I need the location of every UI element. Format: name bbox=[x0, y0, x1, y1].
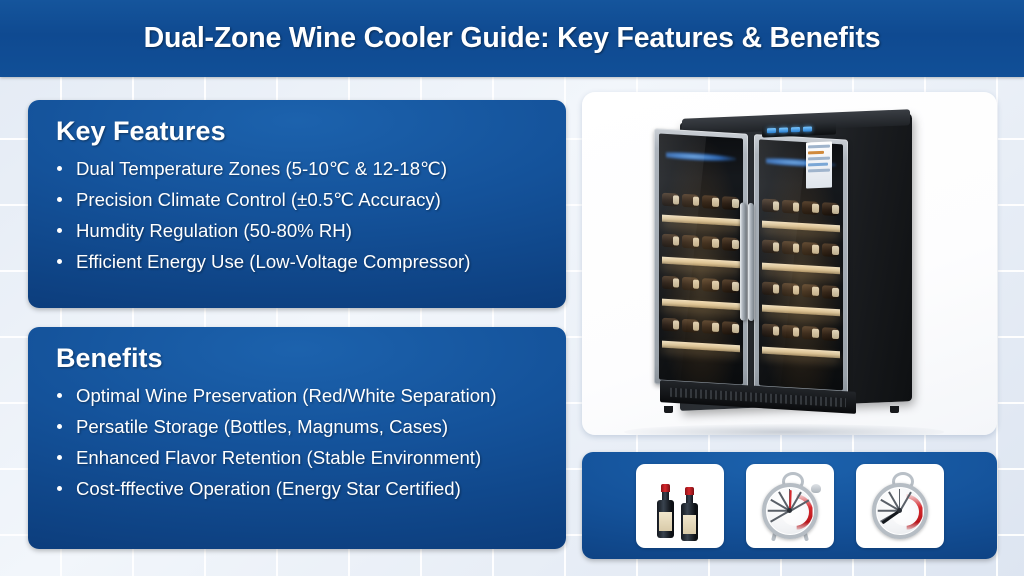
list-item: Efficient Energy Use (Low-Voltage Compre… bbox=[50, 246, 546, 277]
bottle-label bbox=[683, 515, 696, 534]
bottle bbox=[662, 234, 680, 248]
key-features-panel: Key Features Dual Temperature Zones (5-1… bbox=[28, 100, 566, 308]
sticker-line bbox=[808, 169, 830, 173]
wine-cooler-image bbox=[654, 114, 924, 414]
shelf bbox=[762, 346, 841, 358]
door-handle-right[interactable] bbox=[748, 203, 754, 321]
shelf bbox=[662, 340, 741, 352]
product-photo-card bbox=[582, 92, 997, 435]
bullet-dot-icon bbox=[57, 486, 62, 491]
bottle bbox=[682, 319, 700, 333]
cabinet-foot bbox=[664, 406, 673, 413]
bottle bbox=[802, 201, 820, 215]
bottle bbox=[822, 244, 840, 258]
sticker-line bbox=[808, 145, 830, 149]
benefits-panel: Benefits Optimal Wine Preservation (Red/… bbox=[28, 327, 566, 549]
bottle bbox=[682, 235, 700, 249]
key-features-list: Dual Temperature Zones (5-10℃ & 12-18℃) … bbox=[50, 153, 546, 277]
bottle bbox=[702, 278, 720, 292]
shelf bbox=[762, 221, 841, 233]
bottle bbox=[722, 238, 740, 252]
bullet-dot-icon bbox=[57, 424, 62, 429]
bottle bbox=[682, 277, 700, 291]
list-item: Cost-fffective Operation (Energy Star Ce… bbox=[50, 473, 546, 504]
icon-card-hygrometer[interactable] bbox=[856, 464, 944, 548]
list-item-label: Dual Temperature Zones (5-10℃ & 12-18℃) bbox=[76, 158, 447, 179]
shelf bbox=[662, 215, 741, 227]
cooler-door-left[interactable] bbox=[654, 128, 748, 390]
sticker-line bbox=[808, 157, 830, 161]
shelf bbox=[662, 257, 741, 269]
list-item-label: Enhanced Flavor Retention (Stable Enviro… bbox=[76, 447, 481, 468]
bottle-capsule bbox=[685, 487, 694, 495]
bottle bbox=[722, 196, 740, 210]
list-item-label: Cost-fffective Operation (Energy Star Ce… bbox=[76, 478, 461, 499]
bottle bbox=[782, 199, 800, 213]
bottle bbox=[782, 283, 800, 297]
bottle bbox=[762, 240, 780, 254]
bottle bbox=[822, 285, 840, 299]
icon-strip bbox=[582, 452, 997, 559]
bottle bbox=[662, 276, 680, 290]
bullet-dot-icon bbox=[57, 197, 62, 202]
led-digit bbox=[779, 127, 788, 132]
sticker-line bbox=[808, 151, 824, 155]
hygrometer-gauge-icon bbox=[869, 471, 931, 541]
bullet-dot-icon bbox=[57, 166, 62, 171]
bottle bbox=[822, 327, 840, 341]
cooler-door-right[interactable] bbox=[754, 134, 848, 396]
gauge-face bbox=[872, 483, 928, 539]
bottle bbox=[802, 284, 820, 298]
sticker-line bbox=[808, 163, 828, 167]
floor-shadow bbox=[624, 424, 944, 435]
bottle bbox=[822, 202, 840, 216]
list-item-label: Precision Climate Control (±0.5℃ Accurac… bbox=[76, 189, 441, 210]
bottle bbox=[702, 236, 720, 250]
bottle-row bbox=[762, 322, 839, 342]
icon-card-thermometer[interactable] bbox=[746, 464, 834, 548]
bottle-row bbox=[762, 196, 839, 216]
bottle-row bbox=[662, 190, 739, 210]
bottle bbox=[722, 279, 740, 293]
list-item: Humdity Regulation (50-80% RH) bbox=[50, 215, 546, 246]
list-item: Persatile Storage (Bottles, Magnums, Cas… bbox=[50, 411, 546, 442]
bottle bbox=[802, 326, 820, 340]
bottle bbox=[702, 195, 720, 209]
bottle bbox=[782, 241, 800, 255]
gauge-hub bbox=[787, 508, 792, 513]
bullet-dot-icon bbox=[57, 393, 62, 398]
benefits-list: Optimal Wine Preservation (Red/White Sep… bbox=[50, 380, 546, 504]
list-item: Dual Temperature Zones (5-10℃ & 12-18℃) bbox=[50, 153, 546, 184]
shelf bbox=[662, 298, 741, 310]
bottle-row bbox=[762, 280, 839, 300]
thermometer-gauge-icon bbox=[759, 471, 821, 541]
led-digit bbox=[767, 128, 776, 133]
header-banner: Dual-Zone Wine Cooler Guide: Key Feature… bbox=[0, 0, 1024, 77]
bottle-row bbox=[662, 316, 739, 336]
list-item: Enhanced Flavor Retention (Stable Enviro… bbox=[50, 442, 546, 473]
led-digit bbox=[803, 126, 812, 131]
bullet-dot-icon bbox=[57, 259, 62, 264]
bullet-dot-icon bbox=[57, 228, 62, 233]
bottle-row bbox=[662, 274, 739, 294]
bottle bbox=[662, 192, 680, 206]
infographic-slide: Dual-Zone Wine Cooler Guide: Key Feature… bbox=[0, 0, 1024, 576]
bullet-dot-icon bbox=[57, 455, 62, 460]
list-item-label: Humdity Regulation (50-80% RH) bbox=[76, 220, 352, 241]
key-features-title: Key Features bbox=[56, 116, 546, 147]
bottle bbox=[762, 324, 780, 338]
list-item-label: Optimal Wine Preservation (Red/White Sep… bbox=[76, 385, 497, 406]
gauge-hub bbox=[897, 508, 902, 513]
cabinet-foot bbox=[890, 406, 899, 413]
ventilation-grille bbox=[670, 388, 846, 407]
gauge-adjust-knob bbox=[811, 484, 821, 493]
bottle bbox=[722, 321, 740, 335]
bottle bbox=[762, 198, 780, 212]
bottle bbox=[802, 242, 820, 256]
bottle bbox=[782, 325, 800, 339]
spec-sticker bbox=[806, 141, 832, 188]
bottle-row bbox=[662, 232, 739, 252]
door-handle-left[interactable] bbox=[740, 202, 746, 320]
list-item-label: Persatile Storage (Bottles, Magnums, Cas… bbox=[76, 416, 448, 437]
led-light-strip bbox=[666, 151, 737, 163]
led-digit bbox=[791, 127, 800, 132]
page-title: Dual-Zone Wine Cooler Guide: Key Feature… bbox=[144, 22, 881, 55]
bottle-label bbox=[659, 512, 672, 531]
list-item-label: Efficient Energy Use (Low-Voltage Compre… bbox=[76, 251, 470, 272]
bottle bbox=[662, 318, 680, 332]
list-item: Optimal Wine Preservation (Red/White Sep… bbox=[50, 380, 546, 411]
wine-bottle bbox=[657, 484, 674, 538]
shelf bbox=[762, 304, 841, 316]
benefits-title: Benefits bbox=[56, 343, 546, 374]
bottle-capsule bbox=[661, 484, 670, 492]
wine-bottles-icon bbox=[654, 474, 706, 538]
gauge-face bbox=[762, 483, 818, 539]
wine-bottle bbox=[681, 487, 698, 541]
bottle-row bbox=[762, 238, 839, 258]
bottle bbox=[682, 193, 700, 207]
bottle bbox=[702, 320, 720, 334]
glass-pane-left bbox=[659, 133, 743, 384]
shelf bbox=[762, 263, 841, 275]
list-item: Precision Climate Control (±0.5℃ Accurac… bbox=[50, 184, 546, 215]
bottle bbox=[762, 282, 780, 296]
icon-card-wine-bottles[interactable] bbox=[636, 464, 724, 548]
